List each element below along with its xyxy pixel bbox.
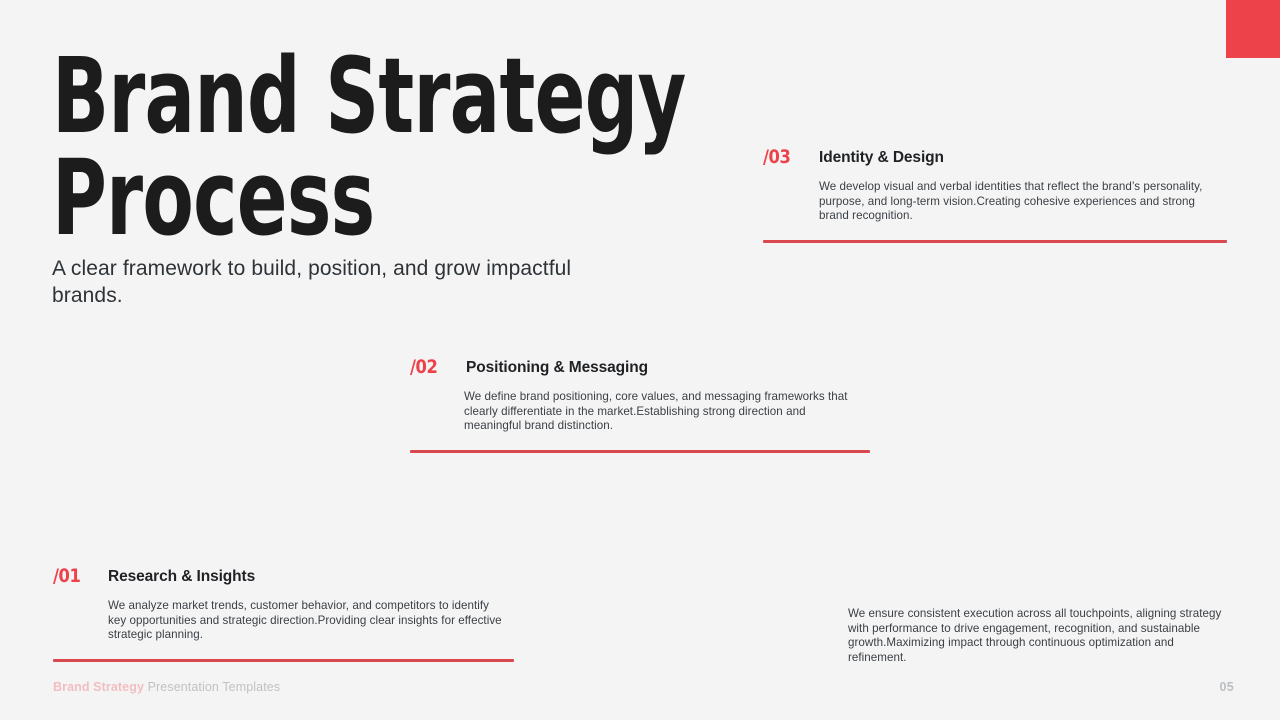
corner-accent-block bbox=[1226, 0, 1280, 58]
process-item-02: /02 Positioning & Messaging We define br… bbox=[410, 358, 870, 453]
process-item-01-body: We analyze market trends, customer behav… bbox=[108, 599, 508, 643]
slide: Brand StrategyProcess A clear framework … bbox=[0, 0, 1280, 720]
process-item-03-title: Identity & Design bbox=[819, 150, 944, 166]
process-item-03-body: We develop visual and verbal identities … bbox=[819, 180, 1219, 224]
page-subtitle: A clear framework to build, position, an… bbox=[52, 256, 572, 310]
trailing-note: We ensure consistent execution across al… bbox=[848, 607, 1234, 665]
process-item-03-number: /03 bbox=[763, 148, 811, 167]
footer-subtitle-label: Presentation Templates bbox=[148, 680, 281, 694]
process-item-01: /01 Research & Insights We analyze marke… bbox=[53, 567, 514, 662]
process-item-02-divider bbox=[410, 450, 870, 453]
process-item-01-title: Research & Insights bbox=[108, 569, 255, 585]
page-number: 05 bbox=[1219, 680, 1234, 694]
process-item-02-body: We define brand positioning, core values… bbox=[464, 390, 856, 434]
page-title-line-2: Process bbox=[52, 148, 484, 250]
page-title: Brand StrategyProcess bbox=[52, 46, 484, 250]
title-block: Brand StrategyProcess bbox=[52, 46, 652, 250]
process-item-03-divider bbox=[763, 240, 1227, 243]
process-item-03-head: /03 Identity & Design bbox=[763, 148, 1227, 167]
process-item-01-divider bbox=[53, 659, 514, 662]
process-item-01-number: /01 bbox=[53, 567, 100, 586]
process-item-02-number: /02 bbox=[410, 358, 458, 377]
process-item-02-title: Positioning & Messaging bbox=[466, 360, 648, 376]
process-item-02-head: /02 Positioning & Messaging bbox=[410, 358, 870, 377]
footer: Brand Strategy Presentation Templates bbox=[53, 680, 280, 694]
footer-brand-label: Brand Strategy bbox=[53, 680, 144, 694]
process-item-01-head: /01 Research & Insights bbox=[53, 567, 514, 586]
process-item-03: /03 Identity & Design We develop visual … bbox=[763, 148, 1227, 243]
